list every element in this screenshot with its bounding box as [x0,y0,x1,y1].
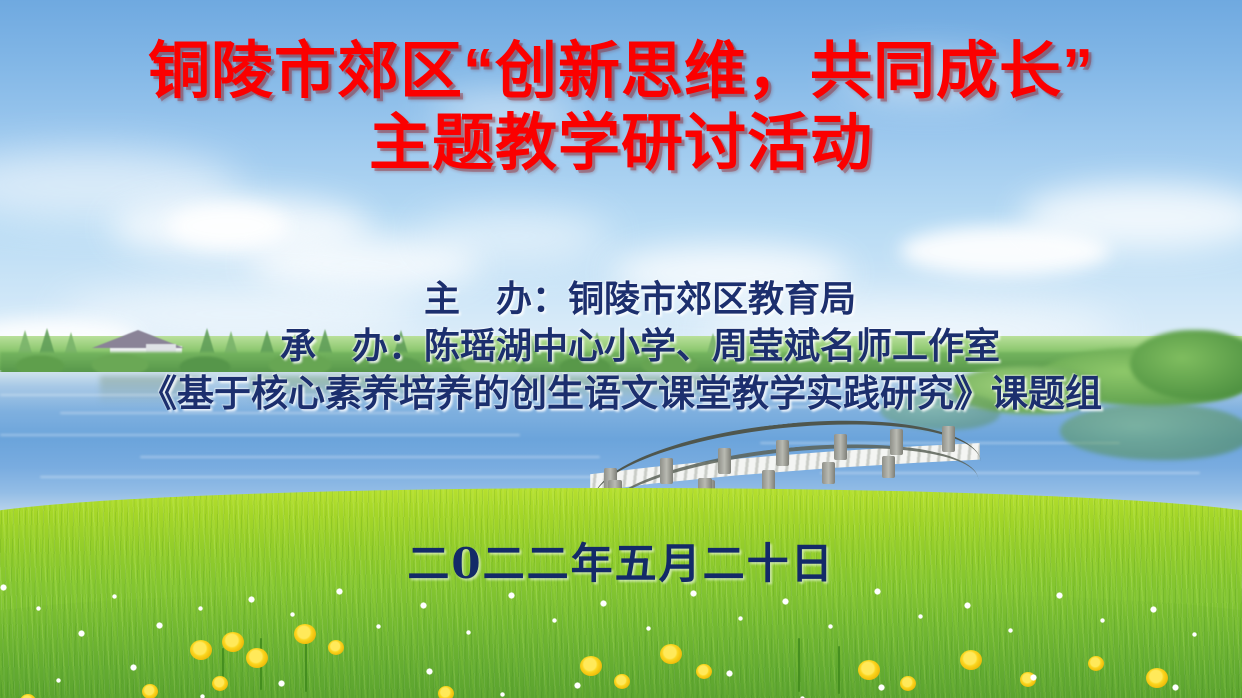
dandelion-flower [190,640,212,660]
bridge-post [660,458,673,484]
dandelion-flower [696,664,712,679]
dandelion-flower [142,684,158,698]
bridge-post-lower [882,456,895,478]
daisy-flower [36,606,41,611]
daisy-flower [574,682,581,689]
daisy-flower [1150,606,1157,613]
daisy-flower [878,684,885,691]
research-group-line: 《基于核心素养培养的创生语文课堂教学实践研究》课题组 [0,370,1242,417]
date-block: 二0二二年五月二十日 [0,538,1242,590]
presentation-slide: 铜陵市郊区“创新思维，共同成长” 主题教学研讨活动 主 办：铜陵市郊区教育局 承… [0,0,1242,698]
water-ripple [40,476,640,478]
daisy-flower [248,596,255,603]
bridge-post [890,429,903,455]
daisy-flower [466,630,471,635]
dandelion-flower [1088,656,1104,671]
bridge-post [834,434,847,460]
daisy-flower [646,626,651,631]
daisy-flower [726,670,733,677]
dandelion-flower [580,656,602,676]
daisy-flower [278,680,285,687]
daisy-flower [500,692,505,697]
daisy-flower [376,624,381,629]
dandelion-flower [614,674,630,689]
daisy-flower [1056,592,1063,599]
daisy-flower [1172,684,1179,691]
daisy-flower [552,618,557,623]
dandelion-flower [212,676,228,691]
daisy-flower [828,624,833,629]
title-line-2: 主题教学研讨活动 [0,108,1242,180]
grass-meadow [0,488,1242,698]
event-date: 二0二二年五月二十日 [407,538,834,590]
dandelion-flower [222,632,244,652]
dandelion-flower [328,640,344,655]
daisy-flower [1192,632,1197,637]
daisy-flower [600,600,607,607]
daisy-flower [690,590,697,597]
dandelion-flower [1146,668,1168,688]
slide-title: 铜陵市郊区“创新思维，共同成长” 主题教学研讨活动 [0,36,1242,180]
daisy-flower [198,606,203,611]
daisy-flower [156,622,163,629]
bridge-post [942,426,955,452]
daisy-flower [112,594,117,599]
organizer-block: 主 办：铜陵市郊区教育局 承 办：陈瑶湖中心小学、周莹斌名师工作室 《基于核心素… [0,276,1242,417]
daisy-flower [508,592,515,599]
daisy-flower [1030,674,1037,681]
bridge-post [718,448,731,474]
host-line: 主 办：铜陵市郊区教育局 [0,276,1242,323]
flower-stem [798,638,800,692]
daisy-flower [200,694,205,698]
daisy-flower [782,598,789,605]
flower-stem [838,646,840,694]
dandelion-flower [246,648,268,668]
title-line-1: 铜陵市郊区“创新思维，共同成长” [0,36,1242,108]
cloud-shape [168,204,288,248]
daisy-flower [56,678,61,683]
daisy-flower [426,668,433,675]
daisy-flower [78,630,85,637]
dandelion-flower [660,644,682,664]
dandelion-flower [438,686,454,698]
daisy-flower [738,616,743,621]
water-ripple [0,434,520,436]
daisy-flower [964,602,971,609]
daisy-flower [1100,618,1105,623]
bridge-post [776,440,789,466]
bridge-post-lower [822,462,835,484]
co-host-line: 承 办：陈瑶湖中心小学、周莹斌名师工作室 [0,323,1242,370]
dandelion-flower [960,650,982,670]
daisy-flower [918,614,923,619]
dandelion-flower [294,624,316,644]
dandelion-flower [858,660,880,680]
dandelion-flower [900,676,916,691]
daisy-flower [290,612,295,617]
daisy-flower [130,664,137,671]
cloud-shape [420,212,610,260]
daisy-flower [1008,628,1013,633]
water-ripple [140,456,600,458]
daisy-flower [420,602,427,609]
